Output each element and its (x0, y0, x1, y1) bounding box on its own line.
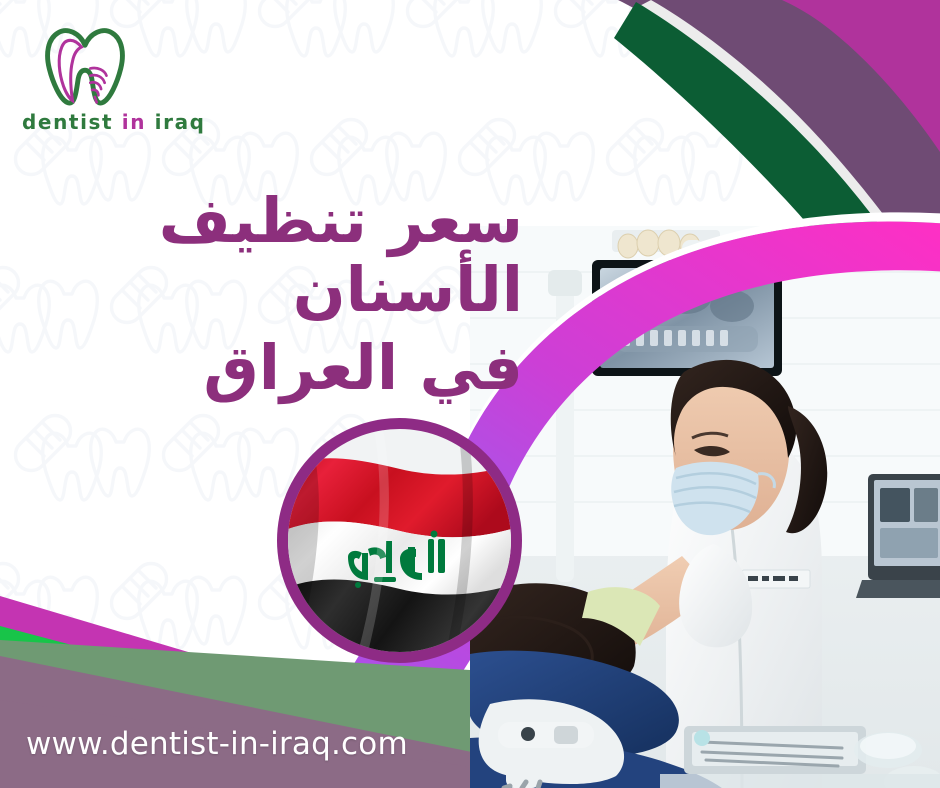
brand-name-part1: dentist (22, 110, 113, 134)
iraq-flag-badge (277, 418, 522, 663)
iraq-flag-image (288, 429, 511, 652)
website-url[interactable]: www.dentist-in-iraq.com (26, 726, 408, 762)
watermark-tooth-icon (256, 0, 406, 90)
watermark-tooth-icon (900, 88, 940, 238)
watermark-tooth-icon (0, 532, 110, 682)
poster-canvas: dentist in iraq سعر تنظيف الأسنان في الع… (0, 0, 940, 788)
brand-name-part2: in (122, 110, 146, 134)
clinic-photo-image (470, 226, 940, 788)
watermark-tooth-icon (552, 0, 702, 90)
brand-logo[interactable]: dentist in iraq (22, 22, 207, 134)
watermark-tooth-icon (12, 384, 162, 534)
watermark-tooth-icon (108, 532, 258, 682)
watermark-tooth-icon (700, 0, 850, 90)
page-title: سعر تنظيف الأسنان في العراق (18, 186, 523, 402)
brand-name-part3: iraq (155, 110, 206, 134)
watermark-tooth-icon (604, 88, 754, 238)
watermark-tooth-icon (848, 0, 940, 90)
brand-name: dentist in iraq (22, 110, 207, 134)
watermark-tooth-icon (404, 0, 554, 90)
clinic-photo (470, 226, 940, 788)
tooth-logo-icon (40, 22, 130, 106)
page-title-line1: سعر تنظيف الأسنان (18, 186, 523, 325)
watermark-tooth-icon (752, 88, 902, 238)
page-title-line2: في العراق (18, 333, 523, 402)
